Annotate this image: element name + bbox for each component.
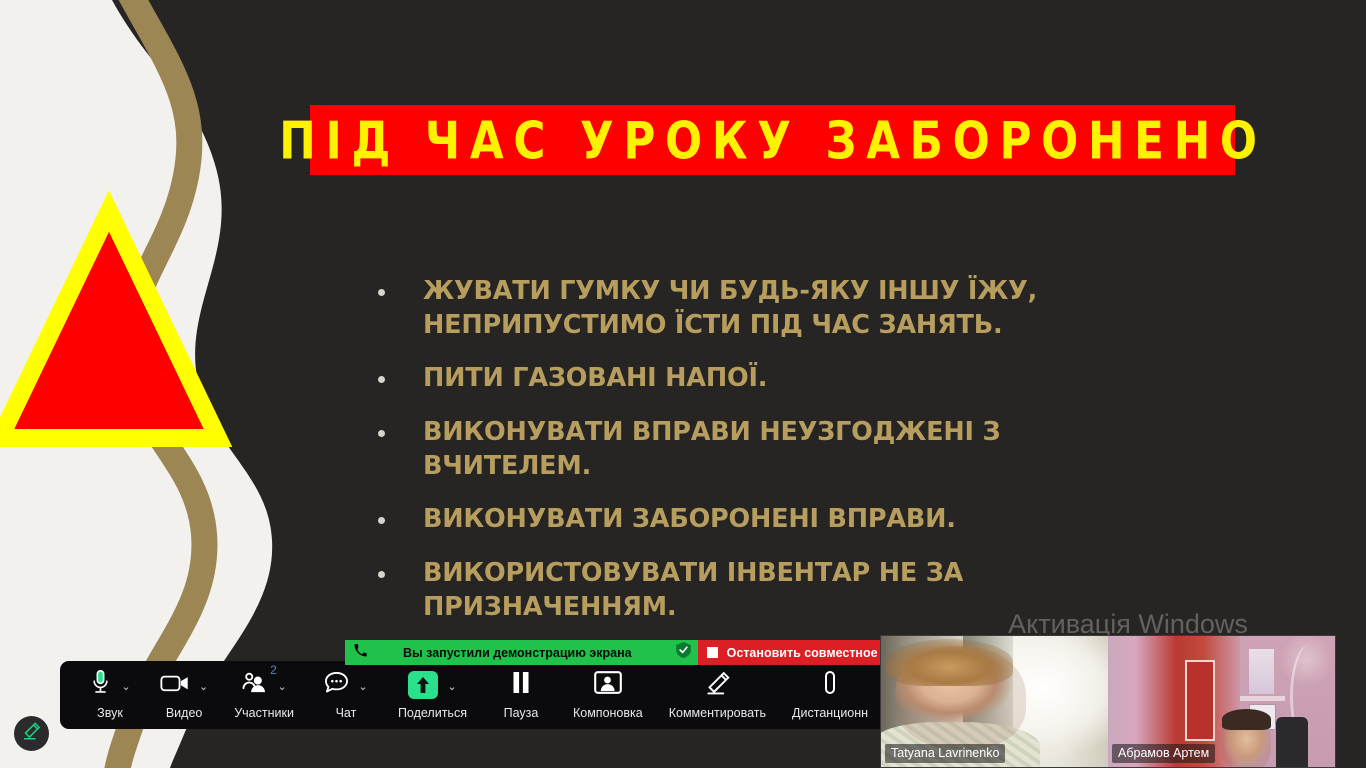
- toolbar-label-share: Поделиться: [398, 706, 467, 720]
- toolbar-item-remote-control[interactable]: Дистанционн: [786, 661, 874, 729]
- toolbar-label-remote-control: Дистанционн: [792, 706, 868, 720]
- screen-share-status-bar: Вы запустили демонстрацию экрана Останов…: [345, 640, 942, 665]
- video-feed-hair: [1222, 709, 1272, 730]
- toolbar-item-share[interactable]: ⌄ Поделиться: [392, 661, 473, 729]
- video-chevron-down-icon[interactable]: ⌄: [199, 682, 208, 693]
- list-item-label: ВИКОНУВАТИ ЗАБОРОНЕНІ ВПРАВИ.: [423, 503, 956, 537]
- list-item: ВИКОНУВАТИ ЗАБОРОНЕНІ ВПРАВИ.: [378, 503, 1168, 537]
- share-chevron-down-icon[interactable]: ⌄: [447, 682, 456, 693]
- toolbar-item-audio[interactable]: ⌄ Звук: [80, 661, 140, 729]
- bullet-dot-icon: [378, 289, 385, 296]
- bullet-dot-icon: [378, 571, 385, 578]
- toolbar-item-pause[interactable]: Пауза: [491, 661, 551, 729]
- list-item-label: ВИКОНУВАТИ ВПРАВИ НЕУЗГОДЖЕНІ З ВЧИТЕЛЕМ…: [423, 416, 1168, 483]
- video-thumbnail-panel[interactable]: Tatyana Lavrinenko Абрамов Артем: [880, 635, 1336, 768]
- video-tile-abramov[interactable]: Абрамов Артем: [1108, 636, 1335, 767]
- toolbar-label-video: Видео: [166, 706, 203, 720]
- sharing-active-label: Вы запустили демонстрацию экрана: [377, 646, 666, 660]
- participant-name-label: Абрамов Артем: [1112, 744, 1215, 763]
- chat-chevron-down-icon[interactable]: ⌄: [358, 682, 367, 693]
- list-item: ЖУВАТИ ГУМКУ ЧИ БУДЬ-ЯКУ ІНШУ ЇЖУ, НЕПРИ…: [378, 275, 1168, 342]
- pause-icon[interactable]: [511, 671, 531, 699]
- video-feed-poster: [1249, 649, 1274, 694]
- stop-square-icon: [707, 647, 718, 658]
- participants-icon[interactable]: [241, 671, 268, 699]
- sharing-active-banner[interactable]: Вы запустили демонстрацию экрана: [345, 640, 698, 665]
- share-arrow-up-icon[interactable]: [408, 671, 438, 699]
- list-item: ПИТИ ГАЗОВАНІ НАПОЇ.: [378, 362, 1168, 396]
- video-feed-chair: [1276, 717, 1308, 767]
- participants-count-badge: 2: [270, 663, 277, 677]
- chat-icon[interactable]: [324, 671, 349, 699]
- video-tile-tatyana[interactable]: Tatyana Lavrinenko: [881, 636, 1108, 767]
- toolbar-item-participants[interactable]: 2 ⌄ Участники: [228, 661, 300, 729]
- toolbar-label-audio: Звук: [97, 706, 123, 720]
- toolbar-label-pause: Пауза: [504, 706, 539, 720]
- video-feed-mirror: [1185, 660, 1215, 741]
- participants-chevron-down-icon[interactable]: ⌄: [277, 682, 286, 693]
- toolbar-label-chat: Чат: [336, 706, 357, 720]
- participant-name-label: Tatyana Lavrinenko: [885, 744, 1005, 763]
- remote-control-icon[interactable]: [818, 671, 842, 699]
- phone-icon: [354, 644, 367, 662]
- annotate-pencil-button[interactable]: [14, 716, 49, 751]
- bullet-dot-icon: [378, 517, 385, 524]
- layout-person-icon[interactable]: [594, 671, 622, 699]
- slide-title-banner: ПІД ЧАС УРОКУ ЗАБОРОНЕНО: [310, 105, 1235, 175]
- list-item: ВИКОРИСТОВУВАТИ ІНВЕНТАР НЕ ЗА ПРИЗНАЧЕН…: [378, 557, 1168, 624]
- toolbar-label-participants: Участники: [234, 706, 294, 720]
- list-item-label: ПИТИ ГАЗОВАНІ НАПОЇ.: [423, 362, 767, 396]
- video-feed-shelf: [1240, 696, 1285, 701]
- bullet-dot-icon: [378, 376, 385, 383]
- toolbar-label-layout: Компоновка: [573, 706, 643, 720]
- list-item-label: ЖУВАТИ ГУМКУ ЧИ БУДЬ-ЯКУ ІНШУ ЇЖУ, НЕПРИ…: [423, 275, 1168, 342]
- list-item-label: ВИКОРИСТОВУВАТИ ІНВЕНТАР НЕ ЗА ПРИЗНАЧЕН…: [423, 557, 1168, 624]
- toolbar-item-annotate[interactable]: Комментировать: [663, 661, 772, 729]
- bullet-dot-icon: [378, 430, 385, 437]
- toolbar-item-chat[interactable]: ⌄ Чат: [316, 661, 376, 729]
- list-item: ВИКОНУВАТИ ВПРАВИ НЕУЗГОДЖЕНІ З ВЧИТЕЛЕМ…: [378, 416, 1168, 483]
- toolbar-item-video[interactable]: ⌄ Видео: [154, 661, 214, 729]
- microphone-icon[interactable]: [89, 669, 112, 701]
- camera-icon[interactable]: [160, 673, 190, 698]
- audio-chevron-down-icon[interactable]: ⌄: [121, 682, 130, 693]
- pencil-icon: [22, 722, 41, 746]
- page-title: ПІД ЧАС УРОКУ ЗАБОРОНЕНО: [279, 114, 1266, 166]
- toolbar-label-annotate: Комментировать: [669, 706, 766, 720]
- video-feed-hair: [886, 639, 1013, 686]
- shield-icon[interactable]: [676, 642, 691, 663]
- pencil-annotate-icon[interactable]: [704, 671, 731, 700]
- toolbar-item-layout[interactable]: Компоновка: [567, 661, 649, 729]
